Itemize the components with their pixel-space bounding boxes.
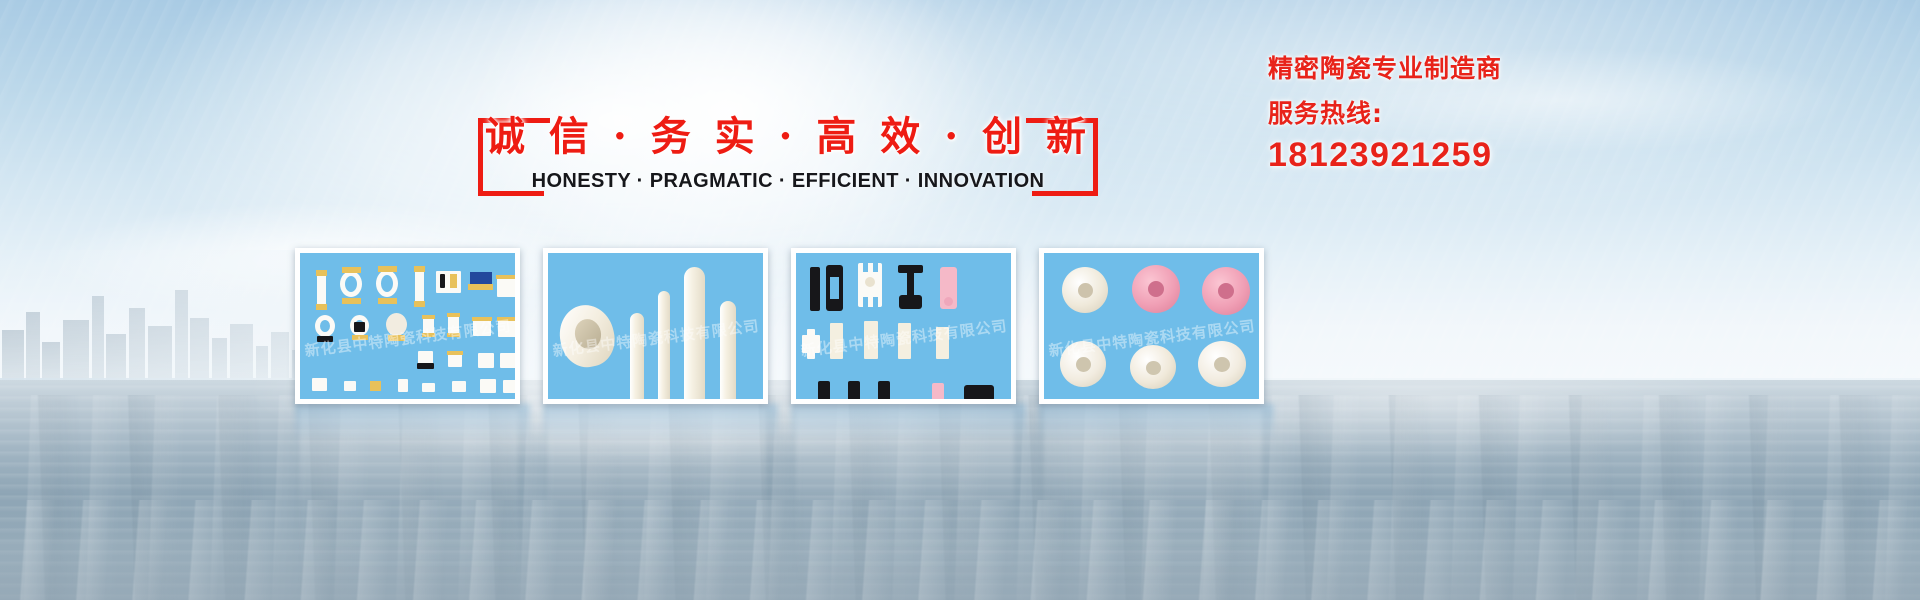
product-panel-4[interactable]: 新化县中特陶瓷科技有限公司 bbox=[1039, 248, 1264, 404]
panel-4-shadow bbox=[1039, 404, 1274, 438]
slogan-block: 诚 信 · 务 实 · 高 效 · 创 新 HONESTY · PRAGMATI… bbox=[478, 108, 1098, 206]
product-photo-3: 新化县中特陶瓷科技有限公司 bbox=[796, 253, 1011, 399]
product-photo-2: 新化县中特陶瓷科技有限公司 bbox=[548, 253, 763, 399]
hero-banner: 诚 信 · 务 实 · 高 效 · 创 新 HONESTY · PRAGMATI… bbox=[0, 0, 1920, 600]
product-panel-3[interactable]: 新化县中特陶瓷科技有限公司 bbox=[791, 248, 1016, 404]
hotline-phone-number[interactable]: 18123921259 bbox=[1268, 134, 1908, 176]
contact-block: 精密陶瓷专业制造商 服务热线: 18123921259 bbox=[1268, 52, 1908, 176]
product-photo-1: 新化县中特陶瓷科技有限公司 bbox=[300, 253, 515, 399]
slogan-chinese: 诚 信 · 务 实 · 高 效 · 创 新 bbox=[478, 108, 1098, 166]
product-panel-2[interactable]: 新化县中特陶瓷科技有限公司 bbox=[543, 248, 768, 404]
panel-1-shadow bbox=[295, 404, 530, 438]
panel-2-shadow bbox=[543, 404, 778, 438]
product-panel-1[interactable]: 新化县中特陶瓷科技有限公司 bbox=[295, 248, 520, 404]
product-photo-4: 新化县中特陶瓷科技有限公司 bbox=[1044, 253, 1259, 399]
slogan-english: HONESTY · PRAGMATIC · EFFICIENT · INNOVA… bbox=[478, 170, 1098, 193]
company-tagline: 精密陶瓷专业制造商 bbox=[1268, 52, 1908, 86]
product-panel-row: 新化县中特陶瓷科技有限公司 新化县中特陶瓷科技有限公司 bbox=[295, 248, 1285, 406]
hotline-label: 服务热线: bbox=[1268, 98, 1908, 130]
panel-3-shadow bbox=[791, 404, 1026, 438]
